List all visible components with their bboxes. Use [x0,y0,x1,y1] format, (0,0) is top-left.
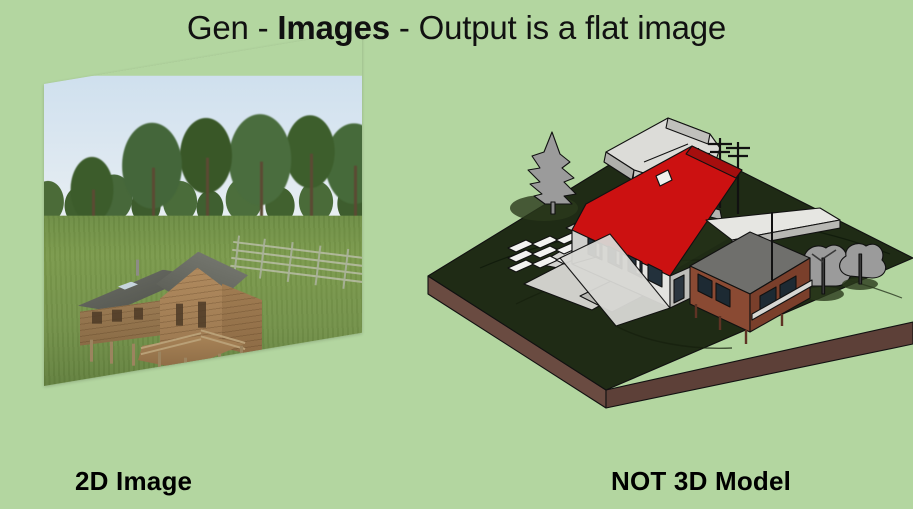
cabin-window [198,302,206,328]
caption-2d-image: 2D Image [75,466,192,497]
deciduous-tree [840,244,886,290]
cabin-stilt [218,354,221,372]
cabin-stilt [158,352,161,374]
photorealistic-cabin-render [44,76,362,386]
caption-not-3d-model: NOT 3D Model [611,466,791,497]
sketchup-3d-site-model [420,108,913,444]
cabin-stilt [90,340,93,362]
title-prefix: Gen - [187,9,278,46]
cabin-stilt [132,344,135,366]
cabin-stilt [240,346,243,364]
photo-frame-2d-image [44,31,362,386]
slide-canvas: Gen - Images - Output is a flat image [0,0,913,509]
photo-cabin [72,244,256,376]
cabin-stilt [110,342,113,364]
cabin-door [176,304,183,326]
cabin-window [92,312,102,324]
cabin-stilt [184,358,187,376]
conifer-tree [510,132,578,221]
title-suffix: - Output is a flat image [390,9,726,46]
cabin-window [112,310,122,322]
cabin-chimney [136,260,139,276]
house-door [674,275,684,303]
cabin-window [134,308,143,320]
page-title: Gen - Images - Output is a flat image [0,6,913,50]
